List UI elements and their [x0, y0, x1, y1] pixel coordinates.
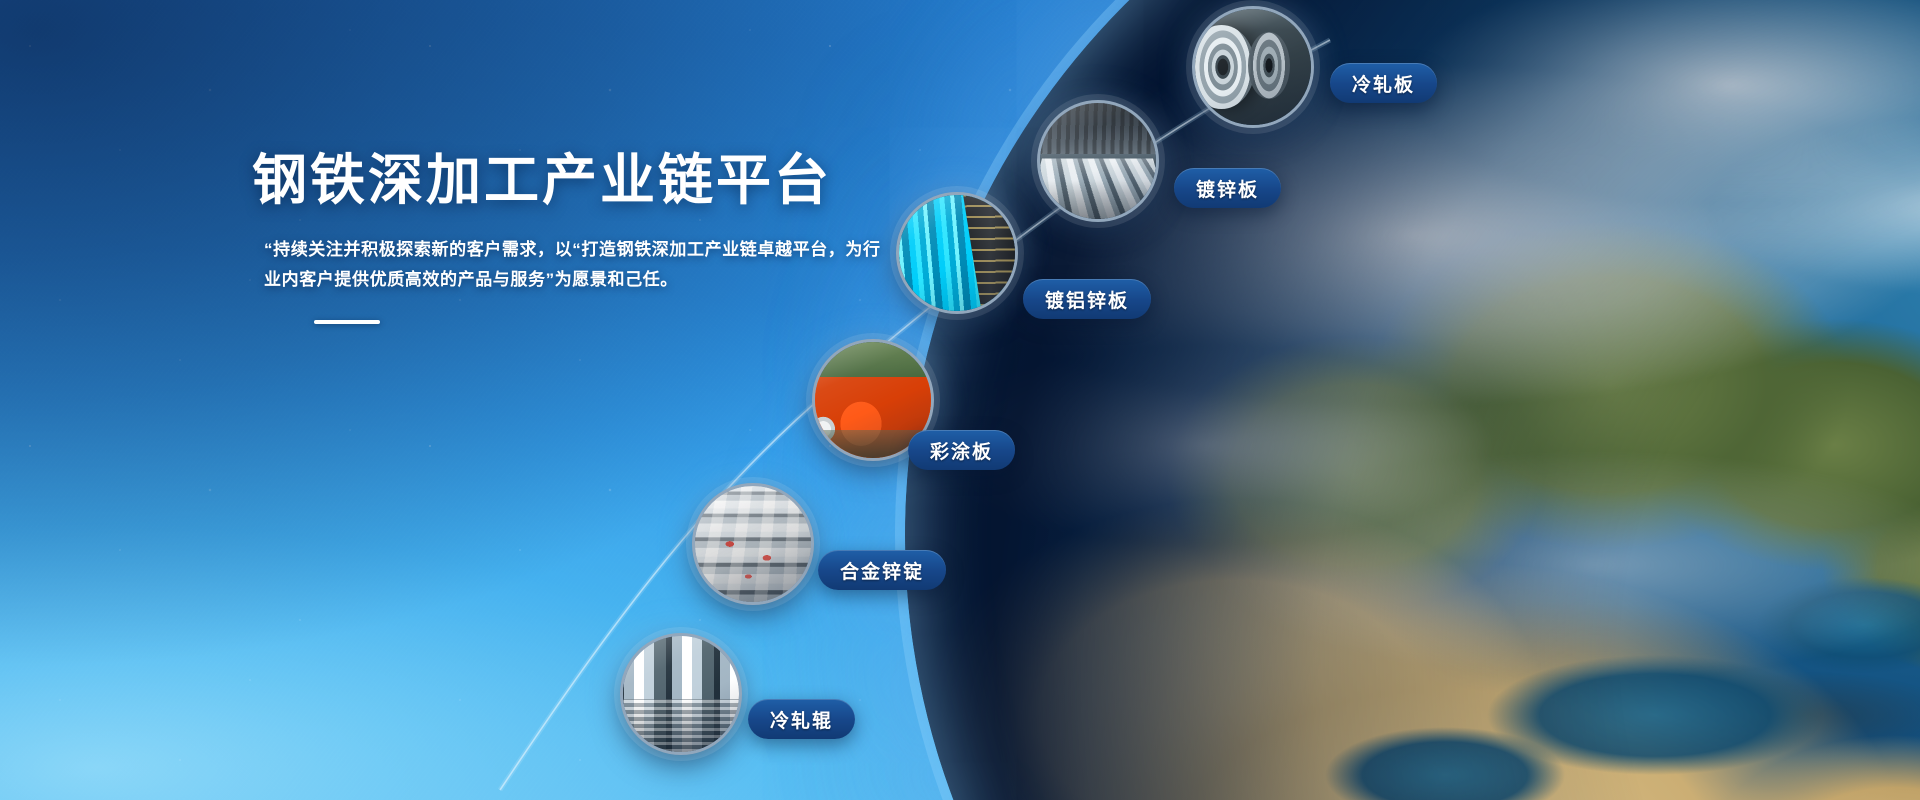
product-label-zinc-alloy-ingot[interactable]: 合金锌锭 [818, 550, 946, 590]
page-title: 钢铁深加工产业链平台 [252, 148, 952, 213]
zinc-ingot-stack-icon[interactable] [692, 483, 814, 605]
product-label-text: 合金锌锭 [840, 557, 924, 584]
product-label-cold-rolling-roll[interactable]: 冷轧辊 [748, 699, 855, 739]
product-label-text: 镀锌板 [1196, 175, 1259, 202]
headline-block: 钢铁深加工产业链平台 “持续关注并积极探索新的客户需求，以“打造钢铁深加工产业链… [252, 148, 952, 324]
product-label-color-coated-sheet[interactable]: 彩涂板 [908, 430, 1015, 470]
product-label-text: 冷轧辊 [770, 706, 833, 733]
product-label-galvalume-sheet[interactable]: 镀铝锌板 [1023, 279, 1151, 319]
divider-rule [314, 320, 380, 324]
page-subtitle: “持续关注并积极探索新的客户需求，以“打造钢铁深加工产业链卓越平台，为行业内客户… [264, 235, 884, 295]
product-label-text: 彩涂板 [930, 437, 993, 464]
coil-warehouse-icon[interactable] [1037, 100, 1159, 222]
thumb-gloss [623, 636, 739, 752]
hero-banner: 冷轧板 镀锌板 镀铝锌板 彩涂板 [0, 0, 1920, 800]
thumb-gloss [1040, 103, 1156, 219]
product-label-text: 冷轧板 [1352, 70, 1415, 97]
product-label-cold-rolled-sheet[interactable]: 冷轧板 [1330, 63, 1437, 103]
product-label-galvanized-sheet[interactable]: 镀锌板 [1174, 168, 1281, 208]
thumb-gloss [695, 486, 811, 602]
steel-coil-icon[interactable] [1192, 6, 1314, 128]
cold-rolling-roll-icon[interactable] [620, 633, 742, 755]
product-label-text: 镀铝锌板 [1045, 286, 1129, 313]
thumb-gloss [1195, 9, 1311, 125]
